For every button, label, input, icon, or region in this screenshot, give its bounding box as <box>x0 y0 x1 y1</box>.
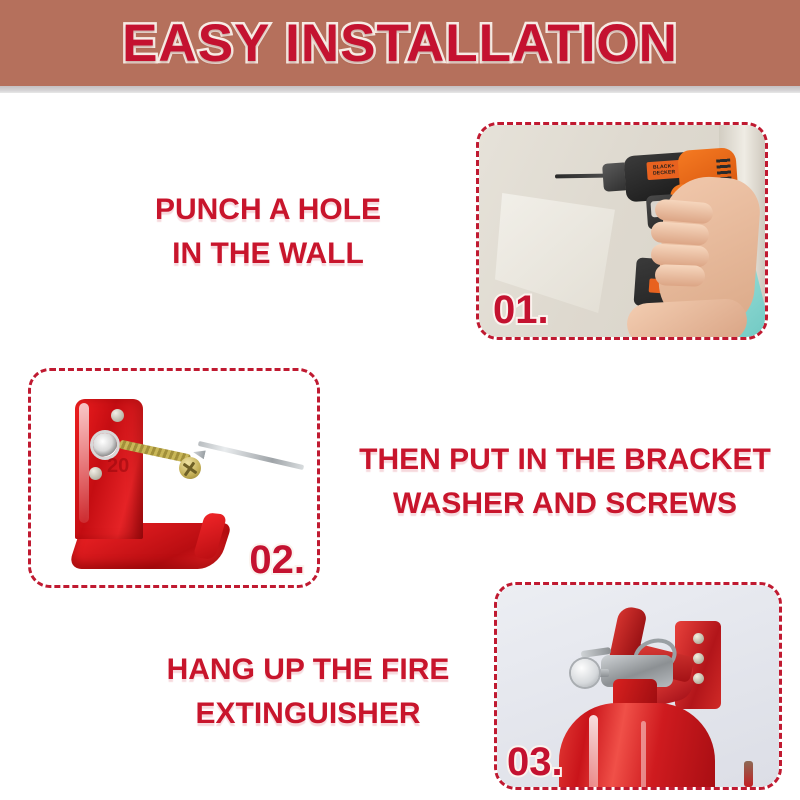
extinguisher-retaining-clip <box>744 761 753 787</box>
banner-shadow-strip <box>0 86 800 93</box>
wall-plug-nail <box>198 441 304 470</box>
bracket-screw-head <box>693 633 704 644</box>
drill-brand-badge: BLACK+ DECKER <box>646 160 681 180</box>
finger <box>650 221 709 246</box>
bracket-screw-head <box>693 673 704 684</box>
finger <box>650 243 709 267</box>
bracket-screw-head <box>111 409 124 422</box>
drill-bit-icon <box>555 174 607 179</box>
extinguisher-cylinder <box>559 703 715 787</box>
bracket-mounting-washer <box>93 433 117 457</box>
supporting-hand <box>626 298 748 337</box>
step-3-photo-panel: 03. <box>494 582 782 790</box>
bracket-highlight <box>79 403 89 523</box>
step-3-number: 03. <box>507 740 563 785</box>
pressure-gauge <box>571 659 599 687</box>
bracket-screw-head <box>693 653 704 664</box>
step-1-photo-panel: BLACK+ DECKER LITHIUM 20V 01. <box>476 122 768 340</box>
finger <box>655 264 706 287</box>
bracket-emboss-label: 20 <box>107 455 129 478</box>
step-1-number: 01. <box>493 288 549 333</box>
header-banner: EASY INSTALLATION <box>0 0 800 86</box>
page-title: EASY INSTALLATION <box>122 13 678 74</box>
step-1-caption: PUNCH A HOLE IN THE WALL <box>100 188 436 276</box>
banner-underline <box>0 93 800 98</box>
bracket-screw-head <box>89 467 102 480</box>
cylinder-highlight <box>641 721 646 787</box>
step-2-caption: THEN PUT IN THE BRACKET WASHER AND SCREW… <box>340 438 790 526</box>
step-2-number: 02. <box>249 538 305 583</box>
cylinder-highlight <box>589 715 598 787</box>
step-2-photo-panel: 20 02. <box>28 368 320 588</box>
step-3-caption: HANG UP THE FIRE EXTINGUISHER <box>108 648 508 736</box>
installation-infographic: EASY INSTALLATION PUNCH A HOLE IN THE WA… <box>0 0 800 800</box>
